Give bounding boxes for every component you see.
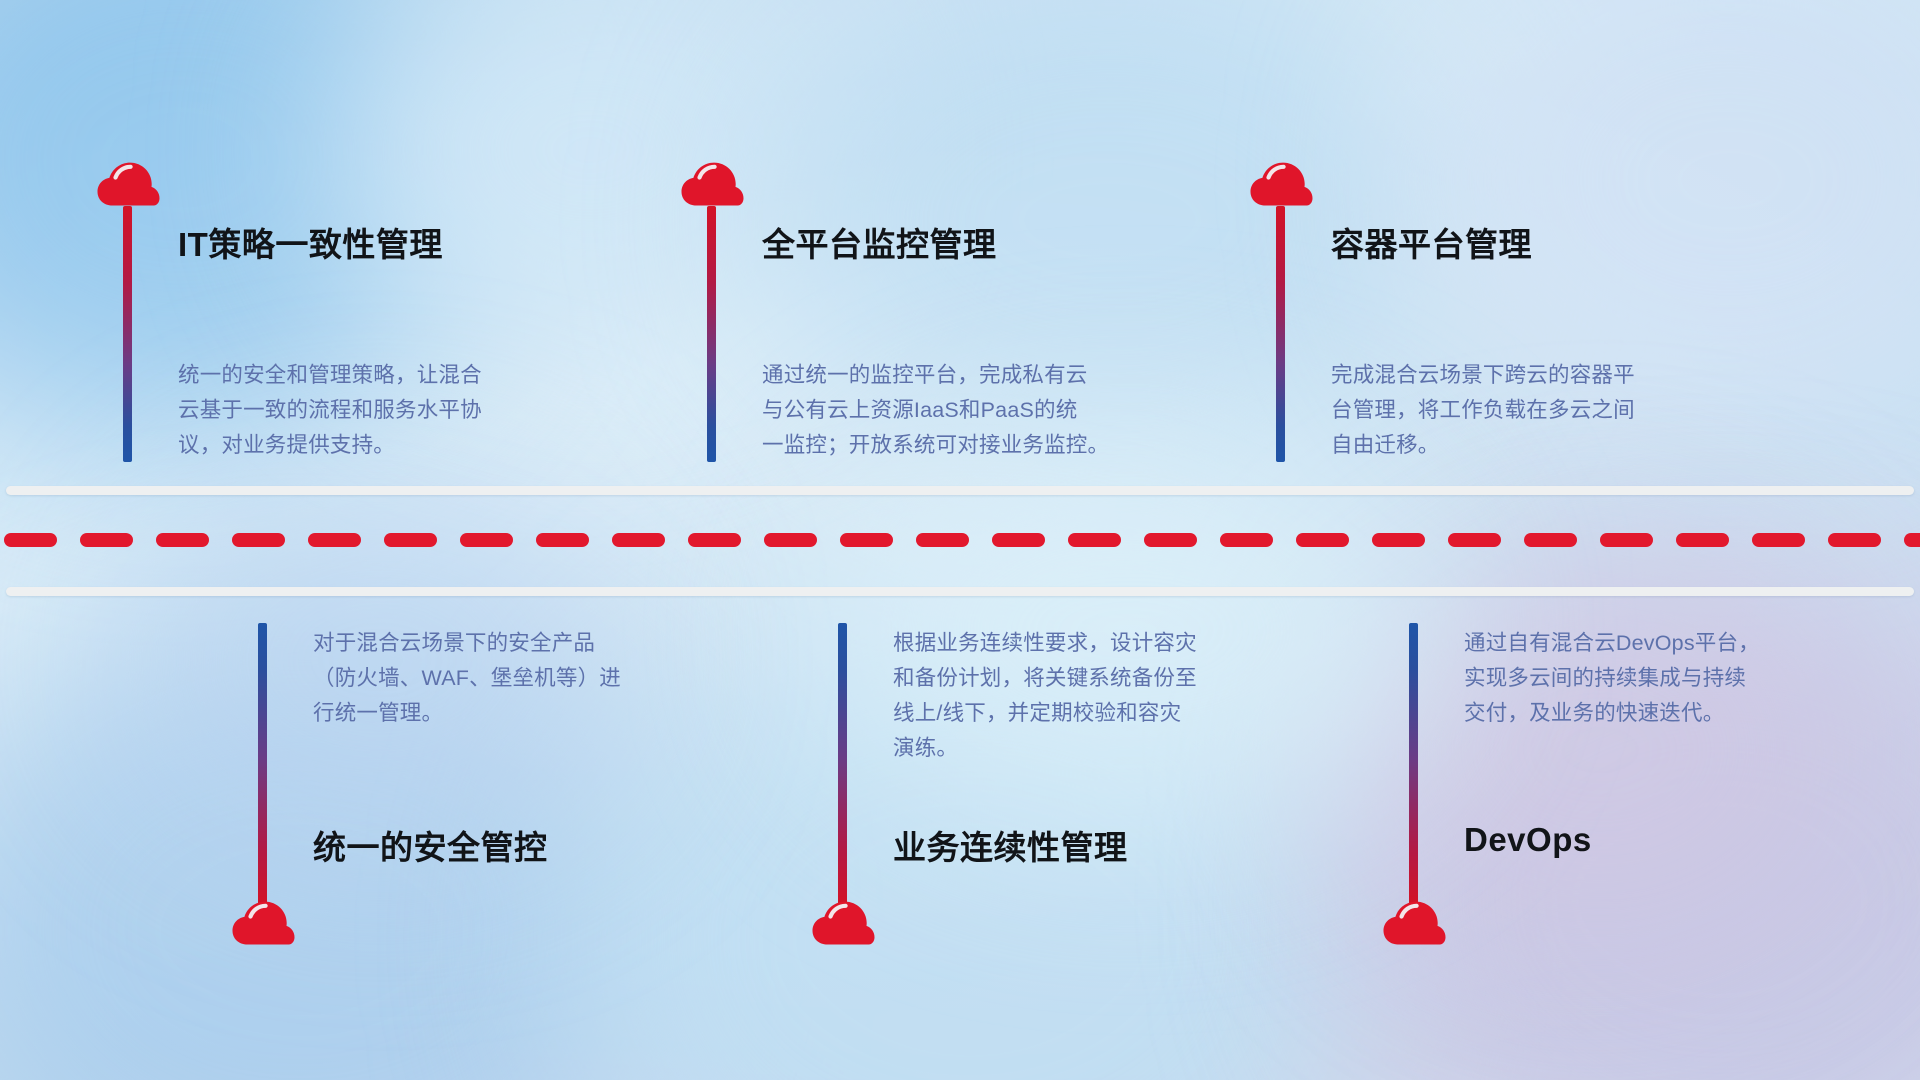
dash-segment [992, 533, 1045, 547]
item-body: 通过统一的监控平台，完成私有云 与公有云上资源IaaS和PaaS的统 一监控；开… [762, 358, 1232, 463]
dash-segment [1220, 533, 1273, 547]
item-full-platform-monitoring: 全平台监控管理 通过统一的监控平台，完成私有云 与公有云上资源IaaS和PaaS… [640, 0, 1280, 486]
cloud-icon [1382, 899, 1446, 947]
body-line: 台管理，将工作负载在多云之间 [1331, 393, 1761, 428]
item-it-policy-consistency: IT策略一致性管理 统一的安全和管理策略，让混合 云基于一致的流程和服务水平协 … [0, 0, 640, 486]
body-line: 演练。 [893, 731, 1333, 766]
dash-segment [1904, 533, 1920, 547]
cloud-icon [811, 899, 875, 947]
body-line: 云基于一致的流程和服务水平协 [178, 393, 618, 428]
stem-connector [1409, 623, 1418, 905]
dash-segment [1676, 533, 1729, 547]
dash-segment [232, 533, 285, 547]
dash-segment [1296, 533, 1349, 547]
item-title: 统一的安全管控 [313, 821, 548, 869]
stem-connector [838, 623, 847, 905]
body-line: 一监控；开放系统可对接业务监控。 [762, 428, 1232, 463]
stem-connector [707, 206, 716, 462]
item-body: 通过自有混合云DevOps平台， 实现多云间的持续集成与持续 交付，及业务的快速… [1464, 626, 1894, 731]
dash-segment [4, 533, 57, 547]
dash-segment [156, 533, 209, 547]
body-line: 统一的安全和管理策略，让混合 [178, 358, 618, 393]
item-devops: 通过自有混合云DevOps平台， 实现多云间的持续集成与持续 交付，及业务的快速… [1280, 596, 1920, 1080]
dash-segment [612, 533, 665, 547]
body-line: 根据业务连续性要求，设计容灾 [893, 626, 1333, 661]
divider-band [0, 486, 1920, 596]
dash-segment [916, 533, 969, 547]
body-line: 实现多云间的持续集成与持续 [1464, 661, 1894, 696]
dash-segment [1828, 533, 1881, 547]
cloud-icon [1249, 160, 1313, 208]
item-title: 容器平台管理 [1331, 218, 1532, 266]
item-title: DevOps [1464, 821, 1592, 859]
infographic-canvas: IT策略一致性管理 统一的安全和管理策略，让混合 云基于一致的流程和服务水平协 … [0, 0, 1920, 1080]
item-container-platform: 容器平台管理 完成混合云场景下跨云的容器平 台管理，将工作负载在多云之间 自由迁… [1210, 0, 1920, 486]
body-line: 线上/线下，并定期校验和容灾 [893, 696, 1333, 731]
dash-segment [308, 533, 361, 547]
dash-segment [1144, 533, 1197, 547]
body-line: 交付，及业务的快速迭代。 [1464, 696, 1894, 731]
dash-segment [1524, 533, 1577, 547]
item-unified-security: 对于混合云场景下的安全产品 （防火墙、WAF、堡垒机等）进 行统一管理。 统一的… [0, 596, 640, 1080]
dash-segment [384, 533, 437, 547]
body-line: 议，对业务提供支持。 [178, 428, 618, 463]
cloud-icon [231, 899, 295, 947]
body-line: 自由迁移。 [1331, 428, 1761, 463]
stem-connector [123, 206, 132, 462]
item-title: 业务连续性管理 [893, 821, 1128, 869]
body-line: 通过自有混合云DevOps平台， [1464, 626, 1894, 661]
cloud-icon [96, 160, 160, 208]
item-title: IT策略一致性管理 [178, 218, 443, 266]
dash-segment [1068, 533, 1121, 547]
dash-segment [1752, 533, 1805, 547]
dash-segment [80, 533, 133, 547]
body-line: 与公有云上资源IaaS和PaaS的统 [762, 393, 1232, 428]
item-title: 全平台监控管理 [762, 218, 997, 266]
dash-segment [764, 533, 817, 547]
dash-segment [460, 533, 513, 547]
dash-segment [1372, 533, 1425, 547]
body-line: 和备份计划，将关键系统备份至 [893, 661, 1333, 696]
divider-rule-top [6, 486, 1914, 495]
item-body: 根据业务连续性要求，设计容灾 和备份计划，将关键系统备份至 线上/线下，并定期校… [893, 626, 1333, 766]
dash-segment [1448, 533, 1501, 547]
item-business-continuity: 根据业务连续性要求，设计容灾 和备份计划，将关键系统备份至 线上/线下，并定期校… [640, 596, 1280, 1080]
divider-dashed-rule [0, 533, 1920, 547]
divider-rule-bottom [6, 587, 1914, 596]
dash-segment [1600, 533, 1653, 547]
body-line: 完成混合云场景下跨云的容器平 [1331, 358, 1761, 393]
item-body: 统一的安全和管理策略，让混合 云基于一致的流程和服务水平协 议，对业务提供支持。 [178, 358, 618, 463]
dash-segment [840, 533, 893, 547]
item-body: 完成混合云场景下跨云的容器平 台管理，将工作负载在多云之间 自由迁移。 [1331, 358, 1761, 463]
dash-segment [688, 533, 741, 547]
body-line: 通过统一的监控平台，完成私有云 [762, 358, 1232, 393]
dash-segment [536, 533, 589, 547]
cloud-icon [680, 160, 744, 208]
stem-connector [1276, 206, 1285, 462]
stem-connector [258, 623, 267, 905]
